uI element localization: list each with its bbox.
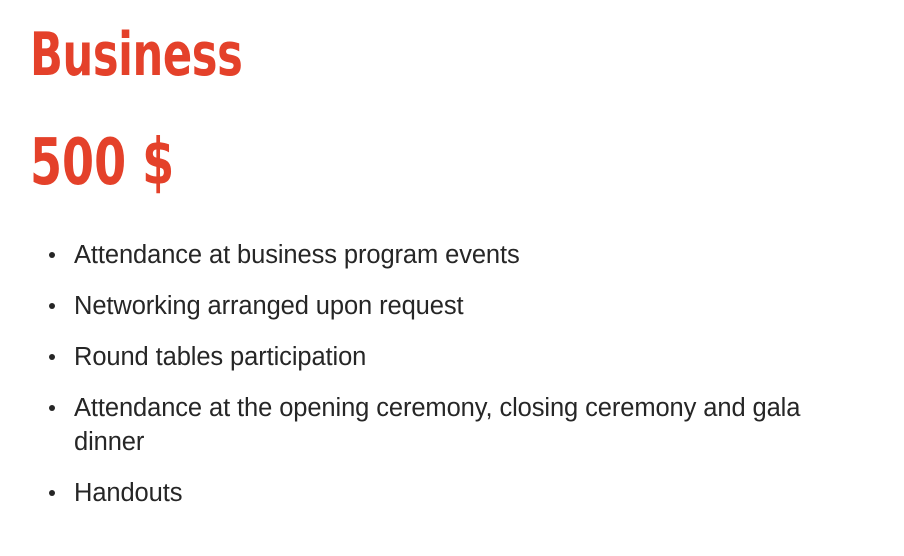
list-item: Handouts — [44, 476, 864, 510]
pricing-card: Business 500 $ Attendance at business pr… — [0, 0, 904, 556]
list-item: Attendance at the opening ceremony, clos… — [44, 391, 864, 459]
feature-label: Networking arranged upon request — [74, 289, 864, 323]
feature-label: Attendance at business program events — [74, 238, 864, 272]
bullet-icon — [49, 252, 55, 258]
pricing-card-header: Business 500 $ — [30, 24, 850, 196]
feature-label: Attendance at the opening ceremony, clos… — [74, 391, 864, 459]
list-item: Round tables participation — [44, 340, 864, 374]
list-item: Networking arranged upon request — [44, 289, 864, 323]
feature-list: Attendance at business program events Ne… — [44, 238, 864, 510]
feature-label: Round tables participation — [74, 340, 864, 374]
bullet-icon — [49, 405, 55, 411]
bullet-icon — [49, 303, 55, 309]
bullet-icon — [49, 354, 55, 360]
plan-title: Business — [30, 24, 686, 86]
bullet-icon — [49, 490, 55, 496]
feature-label: Handouts — [74, 476, 864, 510]
plan-price: 500 $ — [30, 130, 686, 196]
list-item: Attendance at business program events — [44, 238, 864, 272]
